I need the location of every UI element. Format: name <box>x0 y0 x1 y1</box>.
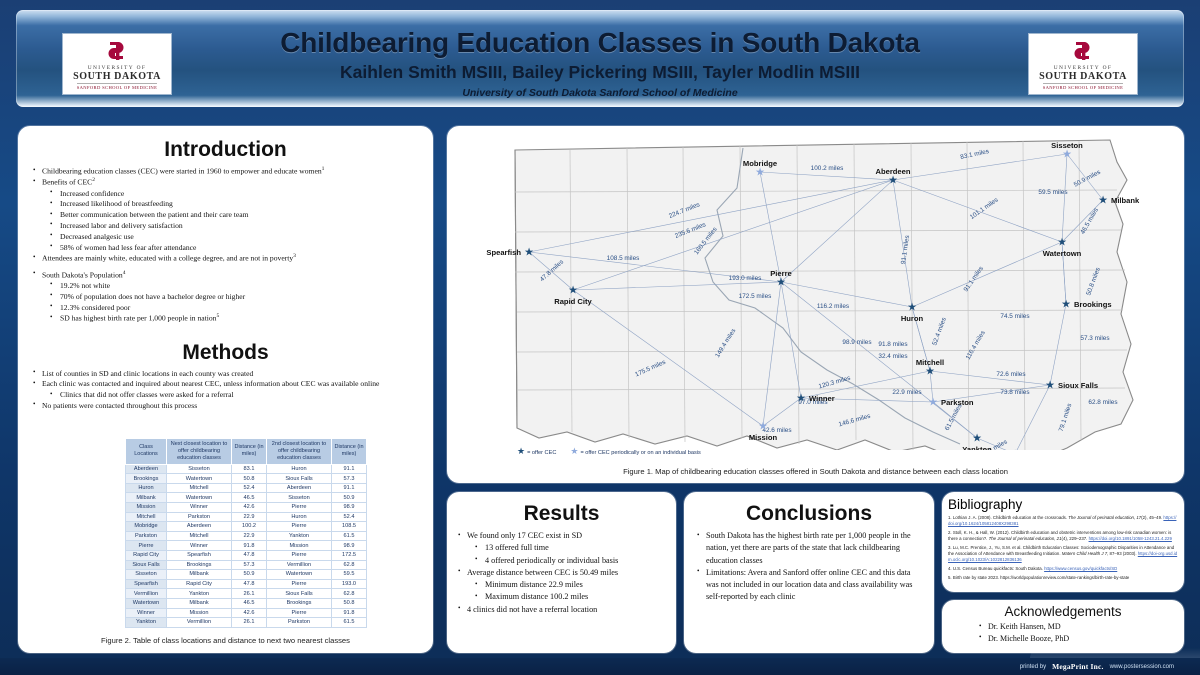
list-item: Better communication between the patient… <box>42 210 421 221</box>
introduction-heading: Introduction <box>30 138 421 162</box>
list-item: 12.3% considered poor <box>42 303 421 314</box>
cell-value: Milbank <box>167 598 232 608</box>
cell-value: 52.4 <box>232 483 267 493</box>
bib-link[interactable]: https://doi.org/10.1891/1058-1243.21.4.2… <box>1089 536 1172 541</box>
logo-line-2: SOUTH DAKOTA <box>73 71 161 82</box>
cell-value: 22.9 <box>232 531 267 541</box>
map-distance-label: 91.8 miles <box>878 341 907 348</box>
legend-item-offer-cec-periodic: ★= offer CEC periodically or on an indiv… <box>570 447 700 456</box>
cell-value: 47.8 <box>232 550 267 560</box>
list-item: 4 offered periodically or individual bas… <box>467 555 668 567</box>
col-second-closest: 2nd closest location to offer childbeari… <box>267 439 332 465</box>
bibliography-entry: 5. Birth rate by state 2023. https://wor… <box>948 575 1178 581</box>
cell-value: 52.4 <box>332 512 367 522</box>
cell-value: 46.5 <box>232 598 267 608</box>
cell-class-location: Rapid City <box>126 550 167 560</box>
cell-value: 98.9 <box>332 503 367 513</box>
table-row: SissetonMilbank50.9Watertown59.5 <box>126 570 367 580</box>
cell-value: 59.5 <box>332 570 367 580</box>
list-item: Childbearing education classes (CEC) wer… <box>30 166 421 177</box>
methods-bullets: List of counties in SD and clinic locati… <box>30 369 421 412</box>
map-distance-label: 116.2 miles <box>817 303 849 310</box>
usd-sd-monogram-icon <box>104 38 130 64</box>
map-city-label: Milbank <box>1111 196 1140 205</box>
cell-class-location: Winner <box>126 608 167 618</box>
cell-value: Pierre <box>267 579 332 589</box>
panel-results: Results We found only 17 CEC exist in SD… <box>447 492 676 653</box>
list-item: We found only 17 CEC exist in SD 13 offe… <box>455 530 668 567</box>
locations-table: Class Locations Next closest location to… <box>125 438 367 628</box>
list-item: South Dakota has the highest birth rate … <box>694 530 924 567</box>
star-filled-icon: ★ <box>776 277 786 289</box>
map-city-label: Watertown <box>1043 249 1082 258</box>
table-row: AberdeenSisseton83.1Huron91.1 <box>126 464 367 474</box>
results-sublist-2: Minimum distance 22.9 miles Maximum dist… <box>467 579 668 604</box>
col-class-locations: Class Locations <box>126 439 167 465</box>
south-dakota-map: 100.2 miles83.1 miles50.9 miles59.5 mile… <box>455 132 1176 450</box>
panel-bibliography: Bibliography 1. Lothian J. A. (2008). Ch… <box>942 492 1184 592</box>
table-header-row: Class Locations Next closest location to… <box>126 439 367 465</box>
cell-value: Aberdeen <box>267 483 332 493</box>
cell-class-location: Parkston <box>126 531 167 541</box>
list-item: Decreased analgesic use <box>42 232 421 243</box>
map-distance-label: 62.8 miles <box>1088 399 1117 406</box>
panel-map-figure: 100.2 miles83.1 miles50.9 miles59.5 mile… <box>447 126 1184 483</box>
map-city-label: Sisseton <box>1051 141 1083 150</box>
bibliography-entry: 4. U.S. Census Bureau quickfacts: South … <box>948 566 1178 572</box>
list-item: Attendees are mainly white, educated wit… <box>30 253 421 264</box>
results-bullets: We found only 17 CEC exist in SD 13 offe… <box>455 530 668 616</box>
methods-sublist: Clinics that did not offer classes were … <box>42 390 421 401</box>
map-distance-label: 74.5 miles <box>1000 313 1029 320</box>
bib-pages: (4), 229–237. <box>1062 536 1089 541</box>
cell-value: Parkston <box>167 512 232 522</box>
usd-sd-monogram-icon <box>1070 38 1096 64</box>
methods-heading: Methods <box>30 341 421 365</box>
list-item: 58% of women had less fear after attenda… <box>42 243 421 254</box>
cell-value: Mitchell <box>167 483 232 493</box>
cell-class-location: Milbank <box>126 493 167 503</box>
cell-value: 83.1 <box>232 464 267 474</box>
cell-value: Sisseton <box>267 493 332 503</box>
results-sublist-1: 13 offered full time 4 offered periodica… <box>467 542 668 567</box>
list-item: 19.2% not white <box>42 281 421 292</box>
list-item: Increased confidence <box>42 189 421 200</box>
map-city-milbank[interactable]: ★Milbank <box>1098 195 1140 207</box>
star-filled-icon: ★ <box>517 446 525 456</box>
cell-value: Brookings <box>267 598 332 608</box>
table-row: Sioux FallsBrookings57.3Vermillion62.8 <box>126 560 367 570</box>
cell-value: 50.9 <box>332 493 367 503</box>
map-city-brookings[interactable]: ★Brookings <box>1061 299 1112 311</box>
list-item: Maximum distance 100.2 miles <box>467 591 668 603</box>
bibliography-entries: 1. Lothian J. A. (2008). Childbirth educ… <box>942 515 1184 581</box>
cell-value: Watertown <box>167 474 232 484</box>
panel-introduction-methods: Introduction Childbearing education clas… <box>18 126 433 653</box>
map-svg: 100.2 miles83.1 miles50.9 miles59.5 mile… <box>455 132 1176 450</box>
star-light-icon: ★ <box>570 446 578 456</box>
cell-class-location: Huron <box>126 483 167 493</box>
map-city-spearfish[interactable]: ★Spearfish <box>486 247 534 259</box>
cell-class-location: Watertown <box>126 598 167 608</box>
map-city-label: Mission <box>749 433 778 442</box>
bib-pages: (2), 45–49. <box>1141 515 1163 520</box>
acknowledgements-heading: Acknowledgements <box>942 604 1184 619</box>
cell-value: 98.9 <box>332 541 367 551</box>
star-filled-icon: ★ <box>568 285 578 297</box>
map-city-label: Pierre <box>770 269 792 278</box>
bibliography-entry: 1. Lothian J. A. (2008). Childbirth educ… <box>948 515 1178 527</box>
bib-text: 5. Birth rate by state 2023. https://wor… <box>948 575 1129 580</box>
map-city-label: Aberdeen <box>875 167 910 176</box>
cell-value: 61.5 <box>332 531 367 541</box>
star-light-icon: ★ <box>758 421 768 433</box>
cell-value: 50.8 <box>232 474 267 484</box>
map-city-label: Mitchell <box>916 358 944 367</box>
map-city-label: Spearfish <box>486 248 521 257</box>
col-next-closest: Next closest location to offer childbear… <box>167 439 232 465</box>
cell-class-location: Mobridge <box>126 522 167 532</box>
cell-value: 47.8 <box>232 579 267 589</box>
cell-value: 193.0 <box>332 579 367 589</box>
poster-header-banner: UNIVERSITY OF SOUTH DAKOTA SANFORD SCHOO… <box>16 10 1184 107</box>
cell-value: Milbank <box>167 570 232 580</box>
cell-value: Watertown <box>267 570 332 580</box>
cell-class-location: Vermillion <box>126 589 167 599</box>
bib-journal: The Journal of perinatal education, 17 <box>1068 515 1141 520</box>
cell-class-location: Brookings <box>126 474 167 484</box>
footer-printed-by: printed by <box>1020 664 1046 670</box>
list-item: 13 offered full time <box>467 542 668 554</box>
introduction-population: South Dakota's Population4 19.2% not whi… <box>30 270 421 325</box>
legend-item-offer-cec: ★= offer CEC <box>517 447 556 456</box>
footer-curve-decoration <box>1030 648 1200 658</box>
map-distance-label: 100.2 miles <box>811 165 844 172</box>
col-distance-2: Distance (in miles) <box>332 439 367 465</box>
cell-value: 62.8 <box>332 589 367 599</box>
star-light-icon: ★ <box>928 397 938 409</box>
star-filled-icon: ★ <box>972 433 982 445</box>
bib-text: 4. U.S. Census Bureau quickfacts: South … <box>948 566 1044 571</box>
cell-value: Vermillion <box>167 618 232 628</box>
list-item: 70% of population does not have a bachel… <box>42 292 421 303</box>
map-distance-label: 57.3 miles <box>1080 335 1109 342</box>
map-distance-label: 59.5 miles <box>1038 189 1067 196</box>
cell-value: Spearfish <box>167 550 232 560</box>
locations-table-wrapper: Class Locations Next closest location to… <box>125 438 367 628</box>
bib-journal: Matern Child Health J 7 <box>1062 551 1107 556</box>
map-distance-label: 73.8 miles <box>1000 389 1029 396</box>
list-item: Clinics that did not offer classes were … <box>42 390 421 401</box>
map-city-sioux-falls[interactable]: ★Sioux Falls <box>1045 380 1098 392</box>
map-distance-label: 22.9 miles <box>892 389 921 396</box>
star-filled-icon: ★ <box>524 247 534 259</box>
figure-2-caption: Figure 2. Table of class locations and d… <box>18 636 433 645</box>
list-item: Minimum distance 22.9 miles <box>467 579 668 591</box>
cell-class-location: Yankton <box>126 618 167 628</box>
cell-value: 57.3 <box>232 560 267 570</box>
cell-value: Winner <box>167 503 232 513</box>
cell-value: Pierre <box>267 608 332 618</box>
map-distance-label: 108.5 miles <box>607 255 640 262</box>
footer-brand: MegaPrint Inc. <box>1052 662 1104 671</box>
cell-value: Vermillion <box>267 560 332 570</box>
cell-value: Parkston <box>267 618 332 628</box>
cell-class-location: Sioux Falls <box>126 560 167 570</box>
acknowledgements-list: Dr. Keith Hansen, MD Dr. Michelle Booze,… <box>976 621 1184 644</box>
bib-journal: The Journal of perinatal education, 21 <box>989 536 1062 541</box>
population-sublist: 19.2% not white 70% of population does n… <box>42 281 421 325</box>
star-light-icon: ★ <box>755 167 765 179</box>
poster-footer: printed by MegaPrint Inc. www.postersess… <box>0 658 1200 675</box>
table-row: MissionWinner42.6Pierre98.9 <box>126 503 367 513</box>
table-row: Rapid CitySpearfish47.8Pierre172.5 <box>126 550 367 560</box>
list-item: Increased labor and delivery satisfactio… <box>42 221 421 232</box>
panel-acknowledgements: Acknowledgements Dr. Keith Hansen, MD Dr… <box>942 600 1184 653</box>
map-city-label: Winner <box>809 394 835 403</box>
cell-class-location: Mission <box>126 503 167 513</box>
map-city-parkston[interactable]: ★Parkston <box>928 397 974 409</box>
cell-value: 42.6 <box>232 608 267 618</box>
map-legend: ★= offer CEC ★= offer CEC periodically o… <box>517 447 701 456</box>
list-item: Each clinic was contacted and inquired a… <box>30 379 421 401</box>
cell-class-location: Mitchell <box>126 512 167 522</box>
poster-authors: Kaihlen Smith MSIII, Bailey Pickering MS… <box>186 63 1014 82</box>
cell-value: 62.8 <box>332 560 367 570</box>
cell-value: 91.8 <box>332 608 367 618</box>
usd-logo-left: UNIVERSITY OF SOUTH DAKOTA SANFORD SCHOO… <box>62 33 172 95</box>
table-row: WatertownMilbank46.5Brookings50.8 <box>126 598 367 608</box>
col-distance-1: Distance (in miles) <box>232 439 267 465</box>
cell-value: Rapid City <box>167 579 232 589</box>
cell-value: Huron <box>267 512 332 522</box>
map-city-label: Huron <box>901 314 924 323</box>
map-distance-label: 193.0 miles <box>729 275 762 282</box>
table-header: Class Locations Next closest location to… <box>126 439 367 465</box>
list-item: South Dakota's Population4 19.2% not whi… <box>30 270 421 325</box>
map-city-label: Yankton <box>962 445 992 450</box>
cell-value: 108.5 <box>332 522 367 532</box>
table-row: MitchellParkston22.9Huron52.4 <box>126 512 367 522</box>
results-heading: Results <box>455 502 668 526</box>
table-row: BrookingsWatertown50.8Sioux Falls57.3 <box>126 474 367 484</box>
poster-affiliation: University of South Dakota Sanford Schoo… <box>186 87 1014 99</box>
cell-value: 91.1 <box>332 464 367 474</box>
cell-value: Sioux Falls <box>267 474 332 484</box>
logo-line-3: SANFORD SCHOOL OF MEDICINE <box>1043 83 1124 90</box>
cell-value: 50.8 <box>332 598 367 608</box>
list-item: Average distance between CEC is 50.49 mi… <box>455 567 668 604</box>
list-item: SD has highest birth rate per 1,000 peop… <box>42 313 421 324</box>
star-filled-icon: ★ <box>907 302 917 314</box>
cell-value: Mission <box>267 541 332 551</box>
map-distance-label: 32.4 miles <box>878 353 907 360</box>
cell-value: Aberdeen <box>167 522 232 532</box>
bibliography-entry: 2. Stoll, K. H., & Hall, W. (2012). Chil… <box>948 530 1178 542</box>
list-item: No patients were contacted throughout th… <box>30 401 421 412</box>
cell-value: 50.9 <box>232 570 267 580</box>
map-city-label: Brookings <box>1074 300 1112 309</box>
map-distance-label: 72.6 miles <box>996 371 1025 378</box>
map-distance-label: 98.9 miles <box>842 339 871 346</box>
cell-value: 26.1 <box>232 589 267 599</box>
table-row: MobridgeAberdeen100.2Pierre108.5 <box>126 522 367 532</box>
list-item: Increased likelihood of breastfeeding <box>42 199 421 210</box>
list-item: List of counties in SD and clinic locati… <box>30 369 421 380</box>
introduction-benefits: Increased confidence Increased likelihoo… <box>42 189 421 254</box>
cell-value: Pierre <box>267 522 332 532</box>
cell-value: Huron <box>267 464 332 474</box>
conclusions-heading: Conclusions <box>694 502 924 526</box>
star-filled-icon: ★ <box>1061 299 1071 311</box>
list-item: Dr. Keith Hansen, MD <box>976 621 1184 633</box>
table-row: MilbankWatertown46.5Sisseton50.9 <box>126 493 367 503</box>
cell-value: Sisseton <box>167 464 232 474</box>
cell-value: Yankton <box>267 531 332 541</box>
cell-value: Pierre <box>267 503 332 513</box>
footer-website[interactable]: www.postersession.com <box>1110 664 1174 670</box>
cell-class-location: Spearfish <box>126 579 167 589</box>
map-city-label: Sioux Falls <box>1058 381 1098 390</box>
table-row: VermillionYankton26.1Sioux Falls62.8 <box>126 589 367 599</box>
list-item: Limitations: Avera and Sanford offer onl… <box>694 567 924 604</box>
cell-value: Pierre <box>267 550 332 560</box>
star-light-icon: ★ <box>1062 149 1072 161</box>
cell-class-location: Pierre <box>126 541 167 551</box>
list-item: 4 clinics did not have a referral locati… <box>455 604 668 616</box>
panel-conclusions: Conclusions South Dakota has the highest… <box>684 492 934 653</box>
map-distance-label: 172.5 miles <box>739 293 772 300</box>
star-filled-icon: ★ <box>1098 195 1108 207</box>
star-filled-icon: ★ <box>925 366 935 378</box>
logo-line-3: SANFORD SCHOOL OF MEDICINE <box>77 83 158 90</box>
cell-value: 172.5 <box>332 550 367 560</box>
table-row: HuronMitchell52.4Aberdeen91.1 <box>126 483 367 493</box>
poster-canvas: UNIVERSITY OF SOUTH DAKOTA SANFORD SCHOO… <box>0 0 1200 675</box>
poster-title-block: Childbearing Education Classes in South … <box>186 28 1014 99</box>
map-city-label: Mobridge <box>743 159 777 168</box>
bib-link[interactable]: https://www.census.gov/quickfacts/SD <box>1044 566 1117 571</box>
list-item: Dr. Michelle Booze, PhD <box>976 633 1184 645</box>
cell-value: 91.8 <box>232 541 267 551</box>
cell-value: 26.1 <box>232 618 267 628</box>
bibliography-heading: Bibliography <box>942 497 1184 512</box>
cell-value: Mission <box>167 608 232 618</box>
cell-value: Brookings <box>167 560 232 570</box>
cell-value: 57.3 <box>332 474 367 484</box>
cell-value: 46.5 <box>232 493 267 503</box>
cell-value: 61.5 <box>332 618 367 628</box>
cell-class-location: Sisseton <box>126 570 167 580</box>
introduction-bullets: Childbearing education classes (CEC) wer… <box>30 166 421 265</box>
table-row: YanktonVermillion26.1Parkston61.5 <box>126 618 367 628</box>
star-filled-icon: ★ <box>796 393 806 405</box>
usd-logo-right: UNIVERSITY OF SOUTH DAKOTA SANFORD SCHOO… <box>1028 33 1138 95</box>
cell-value: 22.9 <box>232 512 267 522</box>
star-filled-icon: ★ <box>1045 380 1055 392</box>
cell-value: Mitchell <box>167 531 232 541</box>
cell-value: Watertown <box>167 493 232 503</box>
cell-value: 42.6 <box>232 503 267 513</box>
cell-value: Yankton <box>167 589 232 599</box>
cell-value: 91.1 <box>332 483 367 493</box>
map-city-winner[interactable]: ★Winner <box>796 393 835 405</box>
table-row: SpearfishRapid City47.8Pierre193.0 <box>126 579 367 589</box>
cell-value: 100.2 <box>232 522 267 532</box>
star-filled-icon: ★ <box>1010 449 1020 451</box>
star-filled-icon: ★ <box>888 175 898 187</box>
table-row: WinnerMission42.6Pierre91.8 <box>126 608 367 618</box>
poster-title: Childbearing Education Classes in South … <box>186 28 1014 59</box>
cell-class-location: Aberdeen <box>126 464 167 474</box>
bibliography-entry: 3. Lu, M.C. Prentice, J., Yu, S.M. et al… <box>948 545 1178 563</box>
map-city-label: Rapid City <box>554 297 592 306</box>
list-item: Benefits of CEC2 Increased confidence In… <box>30 177 421 253</box>
logo-line-2: SOUTH DAKOTA <box>1039 71 1127 82</box>
conclusions-bullets: South Dakota has the highest birth rate … <box>694 530 924 604</box>
bib-text: 1. Lothian J. A. (2008). Childbirth educ… <box>948 515 1068 520</box>
bib-pages: , 87–93 (2003). <box>1107 551 1138 556</box>
figure-1-caption: Figure 1. Map of childbearing education … <box>447 467 1184 476</box>
cell-value: Sioux Falls <box>267 589 332 599</box>
map-city-label: Parkston <box>941 398 974 407</box>
cell-value: Winner <box>167 541 232 551</box>
table-row: ParkstonMitchell22.9Yankton61.5 <box>126 531 367 541</box>
table-body: AberdeenSisseton83.1Huron91.1BrookingsWa… <box>126 464 367 627</box>
star-filled-icon: ★ <box>1057 237 1067 249</box>
table-row: PierreWinner91.8Mission98.9 <box>126 541 367 551</box>
